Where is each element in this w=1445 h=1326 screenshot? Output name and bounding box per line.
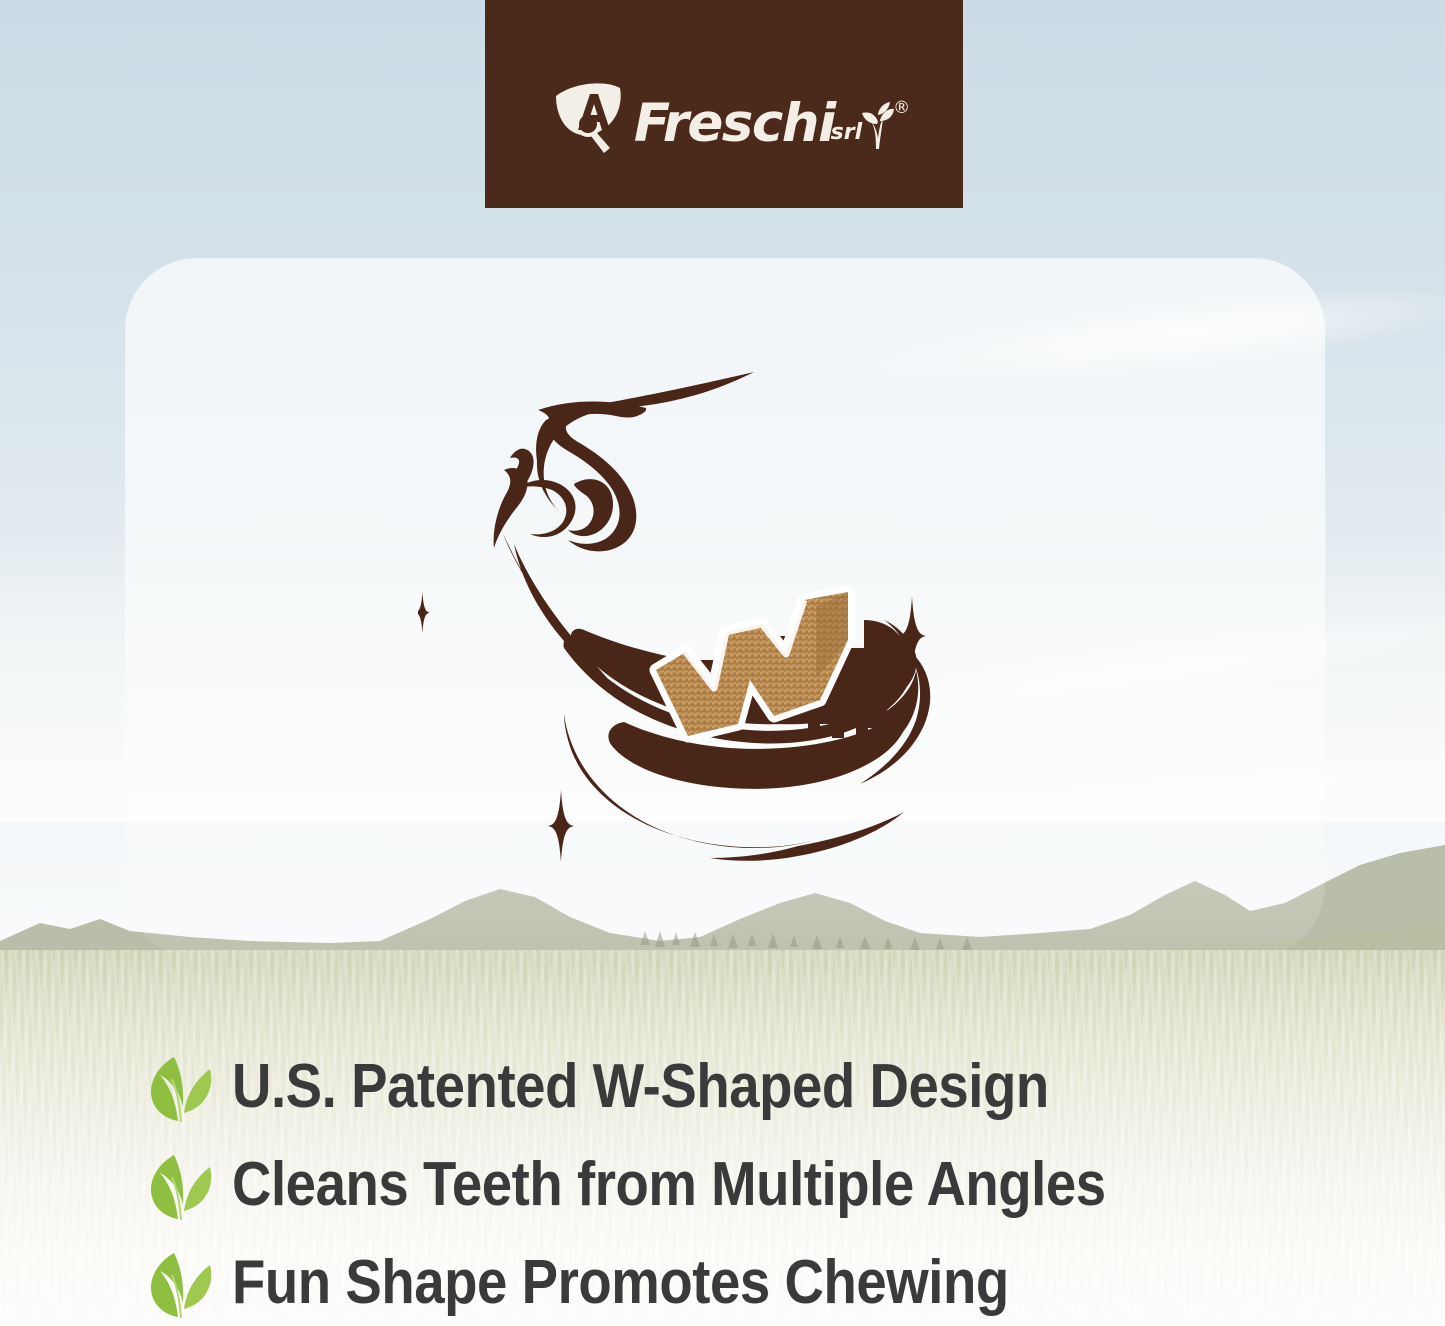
brand-logo: Freschi srl ®	[554, 54, 894, 148]
sparkle-icon	[546, 790, 576, 862]
sparkle-icon	[418, 592, 431, 634]
list-item: Cleans Teeth from Multiple Angles	[140, 1136, 1420, 1234]
leaf-icon	[140, 1051, 218, 1123]
feature-list: U.S. Patented W-Shaped Design Cleans Tee…	[140, 1038, 1420, 1326]
brand-name: Freschi	[634, 100, 835, 148]
brand-header-bar: Freschi srl ®	[485, 0, 963, 208]
leaf-icon	[140, 1149, 218, 1221]
feature-label: Cleans Teeth from Multiple Angles	[232, 1154, 1106, 1216]
sprout-icon: ®	[860, 102, 894, 148]
leaf-a-magnifier-icon	[554, 78, 632, 148]
feature-label: Fun Shape Promotes Chewing	[232, 1252, 1009, 1314]
feature-label: U.S. Patented W-Shaped Design	[232, 1056, 1049, 1118]
list-item: Fun Shape Promotes Chewing	[140, 1234, 1420, 1326]
registered-trademark-icon: ®	[893, 98, 910, 118]
brand-suffix: srl	[831, 122, 863, 148]
list-item: U.S. Patented W-Shaped Design	[140, 1038, 1420, 1136]
dog-illustration	[418, 348, 988, 918]
leaf-icon	[140, 1247, 218, 1319]
